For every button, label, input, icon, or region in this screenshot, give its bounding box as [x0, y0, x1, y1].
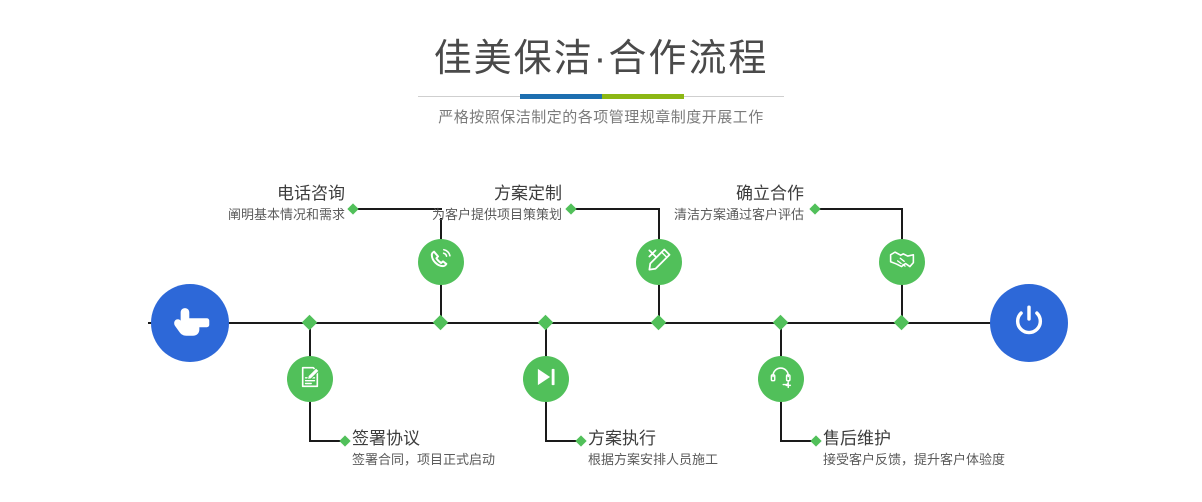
- step-title-6: 售后维护: [823, 428, 1073, 450]
- axis-marker-step-5: [894, 315, 910, 331]
- step-desc-3: 为客户提供项目策策划: [372, 205, 562, 225]
- handshake-icon: [888, 246, 916, 279]
- step-title-4: 方案执行: [588, 428, 818, 450]
- pencil-ruler-icon: [645, 246, 673, 279]
- step-icon-3: [636, 239, 682, 285]
- step-title-2: 签署协议: [352, 428, 582, 450]
- label-marker-step-1: [347, 203, 358, 214]
- power-icon: [1007, 299, 1051, 348]
- step-icon-1: [418, 239, 464, 285]
- step-label-3: 方案定制 为客户提供项目策策划: [372, 183, 562, 225]
- phone-call-icon: [427, 246, 455, 279]
- step-title-5: 确立合作: [614, 183, 804, 205]
- timeline-axis: [148, 322, 1054, 324]
- process-flow-infographic: 佳美保洁·合作流程 严格按照保洁制定的各项管理规章制度开展工作: [0, 0, 1202, 502]
- step-title-3: 方案定制: [372, 183, 562, 205]
- headset-support-icon: [768, 363, 795, 395]
- divider-segment-green: [602, 94, 684, 99]
- timeline-end-node: [990, 284, 1068, 362]
- label-marker-step-3: [565, 203, 576, 214]
- step-label-1: 电话咨询 阐明基本情况和需求: [150, 183, 345, 225]
- step-icon-6: [758, 356, 804, 402]
- step-desc-4: 根据方案安排人员施工: [588, 450, 818, 470]
- label-marker-step-2: [339, 435, 350, 446]
- connector-horizontal-step-5: [818, 208, 903, 210]
- label-marker-step-5: [809, 203, 820, 214]
- step-label-4: 方案执行 根据方案安排人员施工: [588, 428, 818, 470]
- step-desc-1: 阐明基本情况和需求: [150, 205, 345, 225]
- step-desc-2: 签署合同，项目正式启动: [352, 450, 582, 470]
- play-forward-icon: [533, 364, 559, 395]
- title-divider: [418, 94, 784, 100]
- divider-segment-blue: [520, 94, 602, 99]
- page-subtitle: 严格按照保洁制定的各项管理规章制度开展工作: [0, 106, 1202, 130]
- step-icon-2: [287, 356, 333, 402]
- step-desc-6: 接受客户反馈，提升客户体验度: [823, 450, 1073, 470]
- axis-marker-step-3: [651, 315, 667, 331]
- axis-marker-step-1: [433, 315, 449, 331]
- step-label-6: 售后维护 接受客户反馈，提升客户体验度: [823, 428, 1073, 470]
- step-title-1: 电话咨询: [150, 183, 345, 205]
- step-label-5: 确立合作 清洁方案通过客户评估: [614, 183, 804, 225]
- step-icon-5: [879, 239, 925, 285]
- step-icon-4: [523, 356, 569, 402]
- axis-marker-step-4: [538, 315, 554, 331]
- axis-marker-step-6: [773, 315, 789, 331]
- axis-marker-step-2: [302, 315, 318, 331]
- document-edit-icon: [297, 364, 323, 395]
- pointing-hand-icon: [167, 298, 213, 349]
- page-title: 佳美保洁·合作流程: [0, 36, 1202, 82]
- step-desc-5: 清洁方案通过客户评估: [614, 205, 804, 225]
- step-label-2: 签署协议 签署合同，项目正式启动: [352, 428, 582, 470]
- timeline-start-node: [151, 284, 229, 362]
